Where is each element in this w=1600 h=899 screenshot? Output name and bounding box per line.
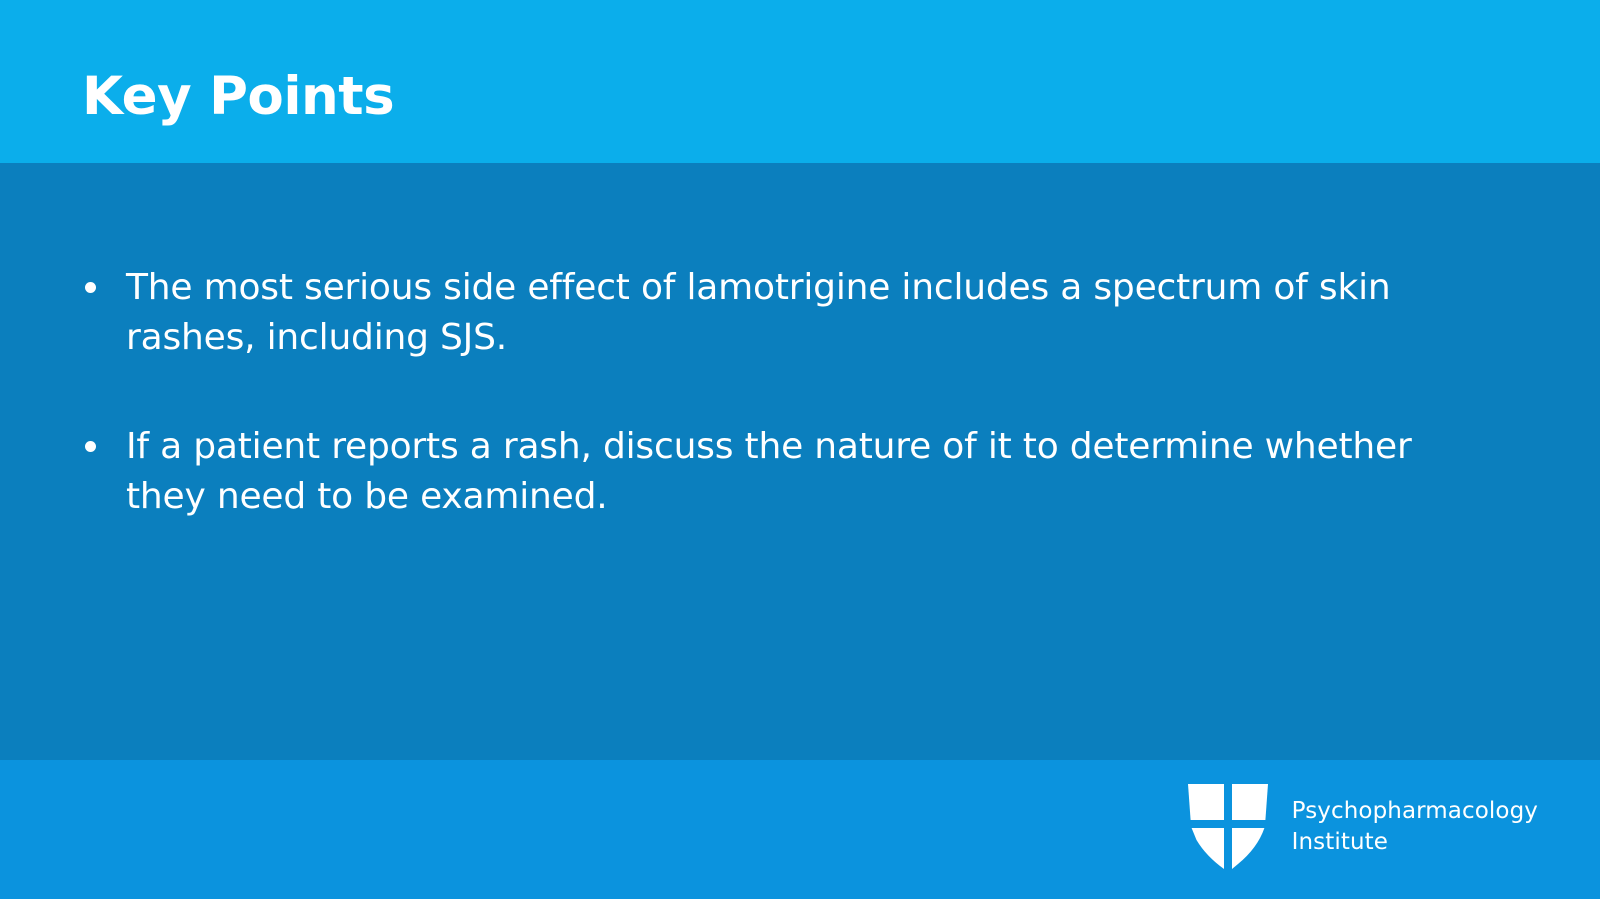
slide-body-band: The most serious side effect of lamotrig… <box>0 163 1600 760</box>
slide-footer-band: Psychopharmacology Institute <box>0 760 1600 899</box>
bullet-dot-icon <box>85 282 96 293</box>
presentation-slide: Key Points The most serious side effect … <box>0 0 1600 899</box>
shield-logo-icon <box>1184 778 1272 882</box>
slide-header-band: Key Points <box>0 0 1600 163</box>
brand-logo-lockup: Psychopharmacology Institute <box>1184 774 1538 882</box>
bullet-dot-icon <box>85 441 96 452</box>
list-item: The most serious side effect of lamotrig… <box>78 263 1468 362</box>
list-item-text: The most serious side effect of lamotrig… <box>126 263 1468 362</box>
key-points-list: The most serious side effect of lamotrig… <box>78 263 1468 522</box>
brand-name-line-1: Psychopharmacology <box>1292 796 1538 827</box>
brand-wordmark: Psychopharmacology Institute <box>1292 796 1538 857</box>
page-title: Key Points <box>82 68 394 125</box>
list-item: If a patient reports a rash, discuss the… <box>78 422 1468 521</box>
list-item-text: If a patient reports a rash, discuss the… <box>126 422 1468 521</box>
brand-name-line-2: Institute <box>1292 827 1538 858</box>
